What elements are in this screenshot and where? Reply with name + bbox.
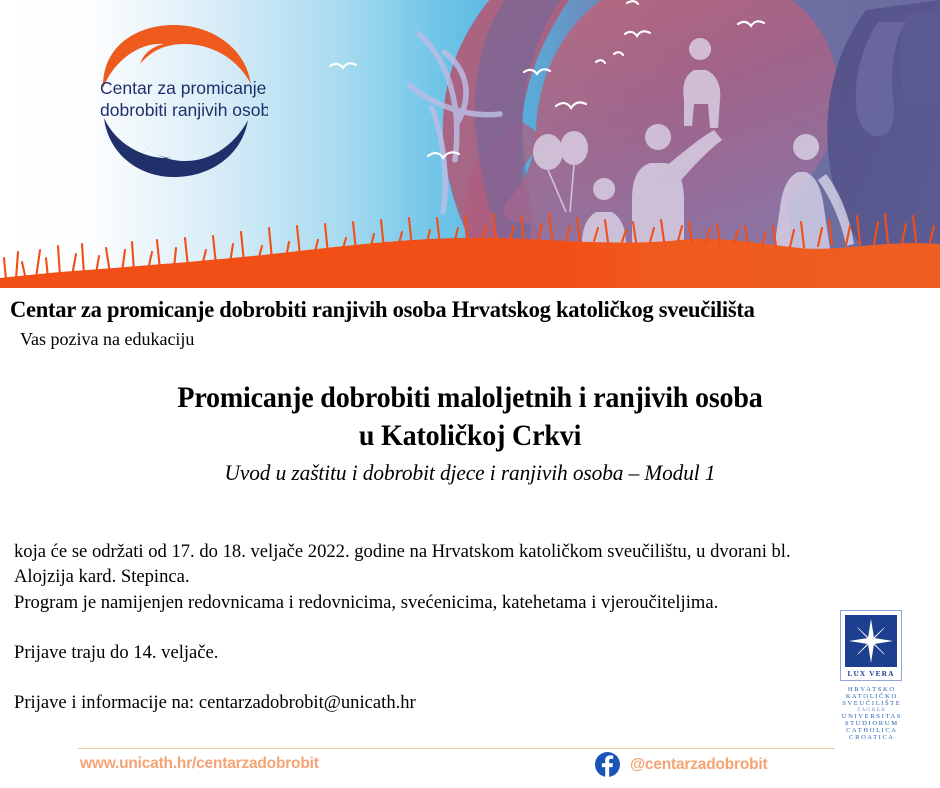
facebook-icon[interactable] bbox=[595, 752, 620, 777]
university-logo: LUX VERA H R V A T S K O K A T O L I Č K… bbox=[840, 610, 908, 742]
paragraph-contact: Prijave i informacije na: centarzadobrob… bbox=[14, 690, 874, 715]
uni-line-6: S T U D I O R U M bbox=[845, 720, 897, 727]
paragraph-date-venue-line1: koja će se održati od 17. do 18. veljače… bbox=[14, 539, 874, 564]
event-title-line2: u Katoličkoj Crkvi bbox=[24, 418, 917, 456]
event-title-block: Promicanje dobrobiti maloljetnih i ranji… bbox=[0, 380, 940, 489]
center-logo-line2: dobrobiti ranjivih osoba bbox=[100, 100, 268, 120]
uni-line-2: K A T O L I Č K O bbox=[846, 692, 897, 700]
footer-facebook-group[interactable]: @centarzadobrobit bbox=[595, 752, 767, 777]
event-title-line1: Promicanje dobrobiti maloljetnih i ranji… bbox=[24, 380, 917, 418]
footer-website-link[interactable]: www.unicath.hr/centarzadobrobit bbox=[80, 755, 319, 773]
spacer-1 bbox=[14, 615, 874, 640]
uni-line-8: C R O A T I C A bbox=[849, 734, 893, 741]
organisation-line: Centar za promicanje dobrobiti ranjivih … bbox=[10, 297, 893, 323]
uni-line-1: H R V A T S K O bbox=[848, 686, 894, 693]
body-text-block: koja će se održati od 17. do 18. veljače… bbox=[14, 539, 874, 715]
paragraph-audience: Program je namijenjen redovnicama i redo… bbox=[14, 590, 874, 615]
paragraph-date-venue-line2: Alojzija kard. Stepinca. bbox=[14, 564, 874, 589]
uni-line-5: U N I V E R S I T A S bbox=[842, 713, 901, 720]
spacer-2 bbox=[14, 665, 874, 690]
footer-facebook-handle[interactable]: @centarzadobrobit bbox=[630, 756, 767, 774]
uni-line-3: S V E U Č I L I Š T E bbox=[842, 699, 900, 707]
uni-line-7: C A T H O L I C A bbox=[846, 727, 896, 734]
lux-vera-motto: LUX VERA bbox=[847, 669, 894, 678]
center-logo-line1: Centar za promicanje bbox=[100, 78, 266, 98]
center-logo: Centar za promicanje dobrobiti ranjivih … bbox=[78, 22, 268, 182]
footer-divider bbox=[78, 748, 835, 749]
event-subtitle: Uvod u zaštitu i dobrobit djece i ranjiv… bbox=[14, 456, 926, 489]
logo-arc-bottom bbox=[104, 118, 248, 177]
paragraph-deadline: Prijave traju do 14. veljače. bbox=[14, 640, 874, 665]
invitation-line: Vas poziva na edukaciju bbox=[20, 329, 194, 351]
